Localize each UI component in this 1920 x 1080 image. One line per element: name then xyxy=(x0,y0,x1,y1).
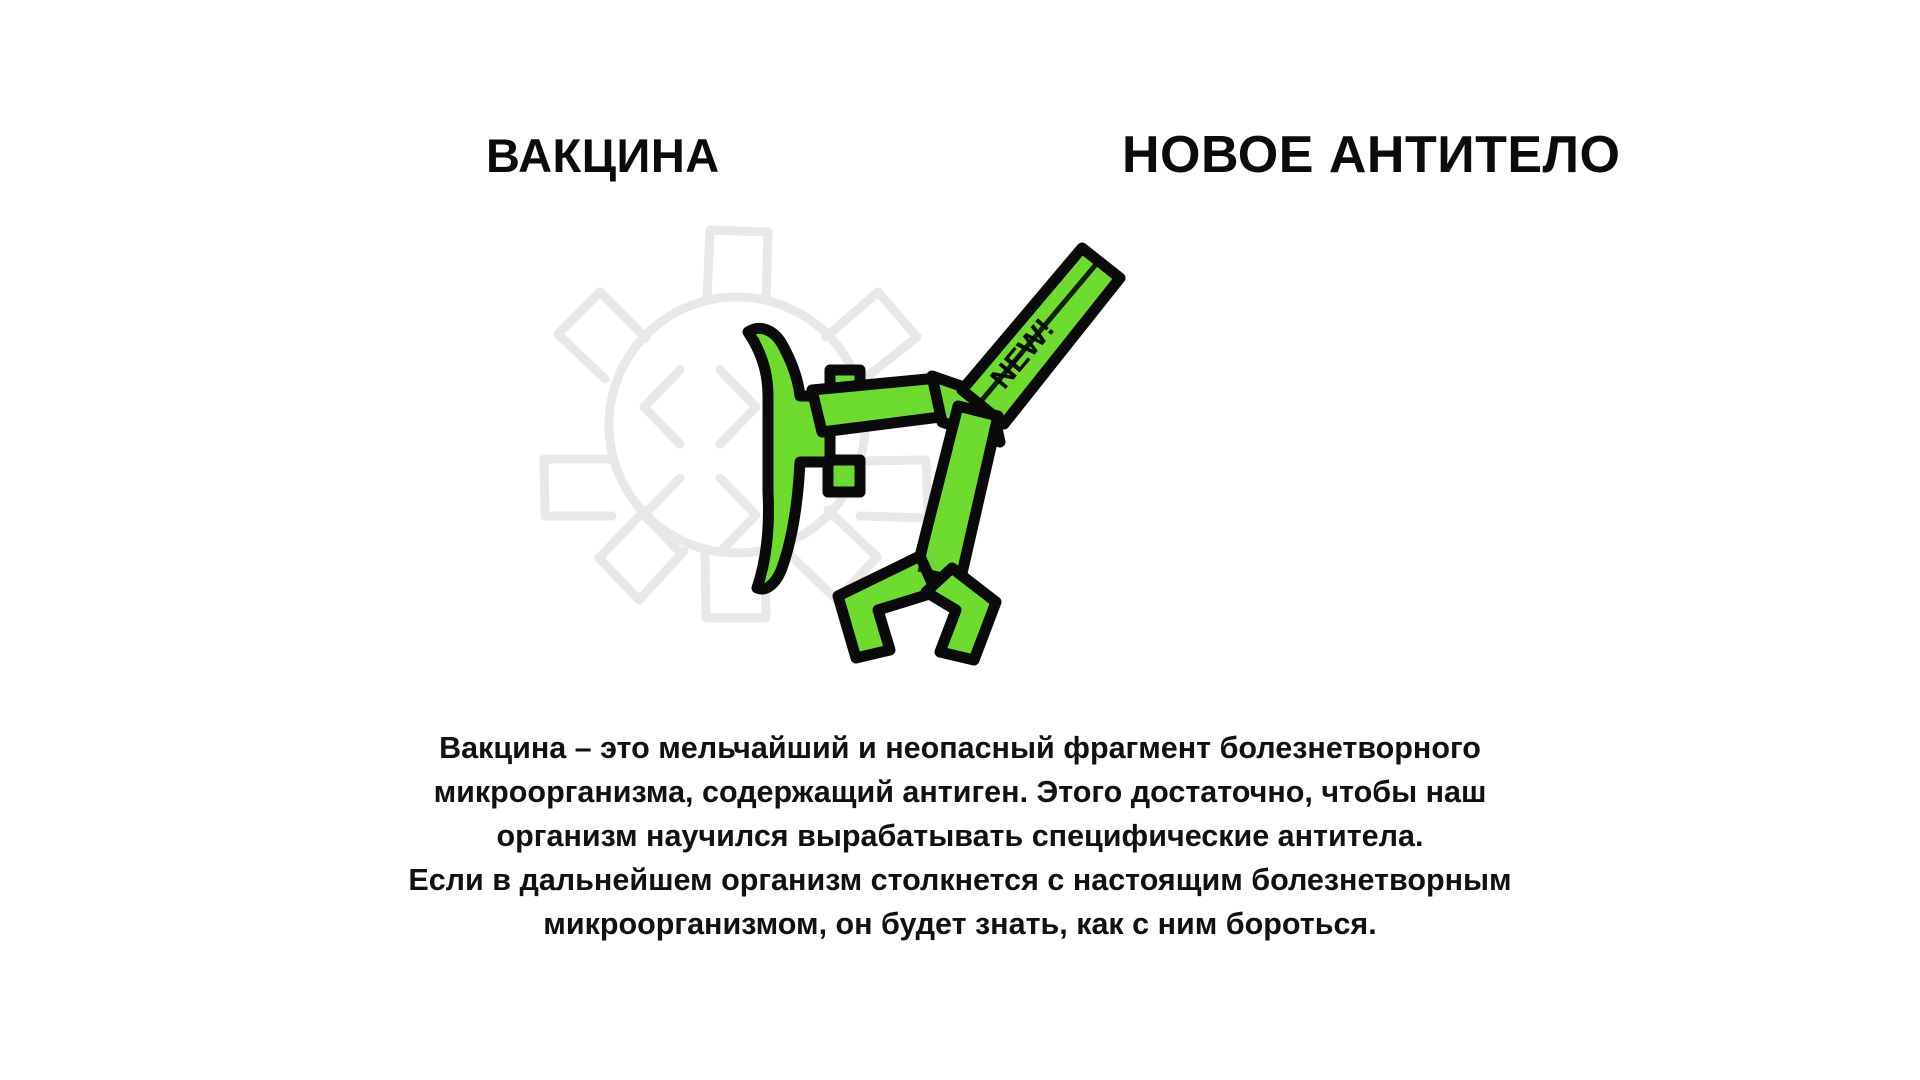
body-line-4: Если в дальнейшем организм столкнется с … xyxy=(260,858,1660,902)
heading-new-antibody: НОВОЕ АНТИТЕЛО xyxy=(1122,129,1620,181)
body-line-3: организм научился вырабатывать специфиче… xyxy=(260,814,1660,858)
slide-canvas: ВАКЦИНА НОВОЕ АНТИТЕЛО xyxy=(0,0,1920,1080)
body-line-2: микроорганизма, содержащий антиген. Этог… xyxy=(260,770,1660,814)
body-line-5: микроорганизмом, он будет знать, как с н… xyxy=(260,902,1660,946)
body-line-1: Вакцина – это мельчайший и неопасный фра… xyxy=(260,726,1660,770)
vaccine-antibody-illustration: NEW! xyxy=(560,210,1390,680)
vaccine-fragment-shape xyxy=(748,328,860,589)
body-paragraph: Вакцина – это мельчайший и неопасный фра… xyxy=(260,726,1660,946)
heading-vaccine: ВАКЦИНА xyxy=(486,132,720,179)
